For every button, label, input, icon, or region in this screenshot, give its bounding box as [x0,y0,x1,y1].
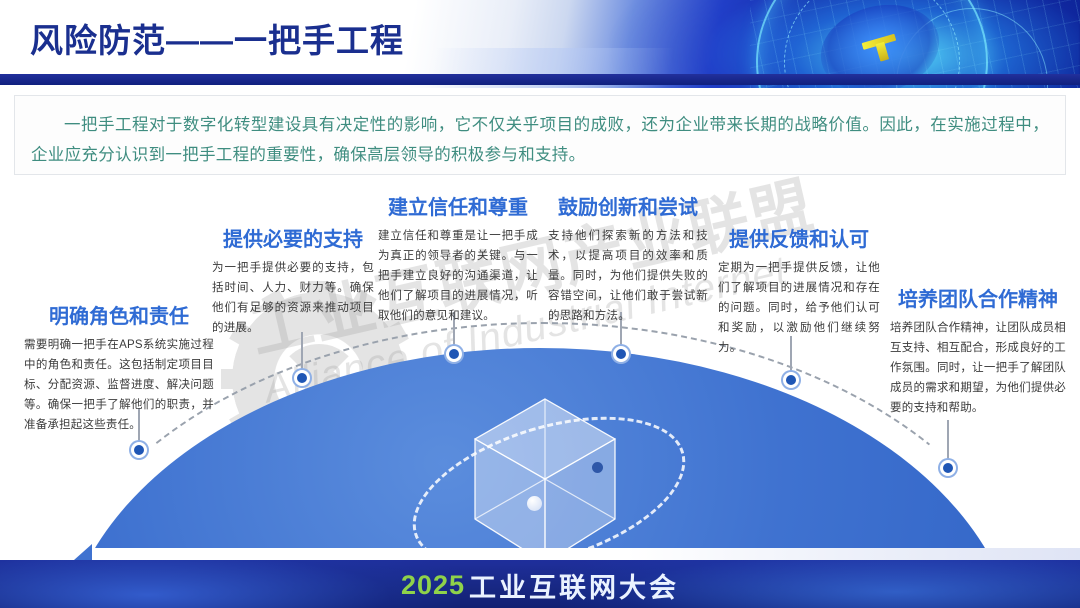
node-marker-1[interactable] [131,442,147,458]
page-title: 风险防范——一把手工程 [30,14,404,62]
callout-build-trust: 建立信任和尊重 建立信任和尊重是让一把手成为真正的领导者的关键。与一把手建立良好… [378,196,538,326]
conference-year: 2025 [401,570,465,600]
callout-clarify-roles: 明确角色和责任 需要明确一把手在APS系统实施过程中的角色和责任。这包括制定项目… [24,305,214,435]
connector-stem-6 [947,420,949,462]
callout-body-3: 建立信任和尊重是让一把手成为真正的领导者的关键。与一把手建立良好的沟通渠道，让他… [378,226,538,326]
callout-encourage-innovation: 鼓励创新和尝试 支持他们探索新的方法和技术，以提高项目的效率和质量。同时，为他们… [548,196,708,326]
orbit-ball-decoration [527,496,542,511]
node-marker-2[interactable] [294,370,310,386]
conference-name-cn: 工业互联网大会 [469,573,679,603]
callout-title-6: 培养团队合作精神 [890,288,1066,312]
callout-body-5: 定期为一把手提供反馈，让他们了解项目的进展情况和存在的问题。同时，给予他们认可和… [718,258,880,358]
callout-provide-support: 提供必要的支持 为一把手提供必要的支持，包括时间、人力、财力等。确保他们有足够的… [212,228,374,338]
node-marker-6[interactable] [940,460,956,476]
callout-provide-feedback: 提供反馈和认可 定期为一把手提供反馈，让他们了解项目的进展情况和存在的问题。同时… [718,228,880,358]
intro-textbox: 一把手工程对于数字化转型建设具有决定性的影响，它不仅关乎项目的成败，还为企业带来… [14,95,1066,175]
callout-title-3: 建立信任和尊重 [378,196,538,220]
node-marker-3[interactable] [446,346,462,362]
callout-title-4: 鼓励创新和尝试 [548,196,708,220]
connector-stem-2 [301,332,303,372]
callout-team-spirit: 培养团队合作精神 培养团队合作精神，让团队成员相互支持、相互配合，形成良好的工作… [890,288,1066,418]
callout-body-1: 需要明确一把手在APS系统实施过程中的角色和责任。这包括制定项目目标、分配资源、… [24,335,214,435]
conference-logo: 2025工业互联网大会 INDUSTRIAL INTERNET CONFEREN… [399,566,682,608]
callout-body-2: 为一把手提供必要的支持，包括时间、人力、财力等。确保他们有足够的资源来推动项目的… [212,258,374,338]
header-navy-divider [0,74,1080,85]
callout-body-4: 支持他们探索新的方法和技术，以提高项目的效率和质量。同时，为他们提供失败的容错空… [548,226,708,326]
slide-footer: 2025工业互联网大会 INDUSTRIAL INTERNET CONFEREN… [0,560,1080,608]
callout-title-1: 明确角色和责任 [24,305,214,329]
node-marker-4[interactable] [613,346,629,362]
callout-title-2: 提供必要的支持 [212,228,374,252]
footer-triangle-decoration [74,544,92,560]
intro-paragraph: 一把手工程对于数字化转型建设具有决定性的影响，它不仅关乎项目的成败，还为企业带来… [15,96,1065,170]
node-marker-5[interactable] [783,372,799,388]
slide-canvas: 风险防范——一把手工程 一把手工程对于数字化转型建设具有决定性的影响，它不仅关乎… [0,0,1080,608]
callout-body-6: 培养团队合作精神，让团队成员相互支持、相互配合，形成良好的工作氛围。同时，让一把… [890,318,1066,418]
callout-title-5: 提供反馈和认可 [718,228,880,252]
footer-glow-decoration [0,560,460,608]
polyhedron-icon [455,391,635,566]
orbit-dark-ball-decoration [592,462,603,473]
